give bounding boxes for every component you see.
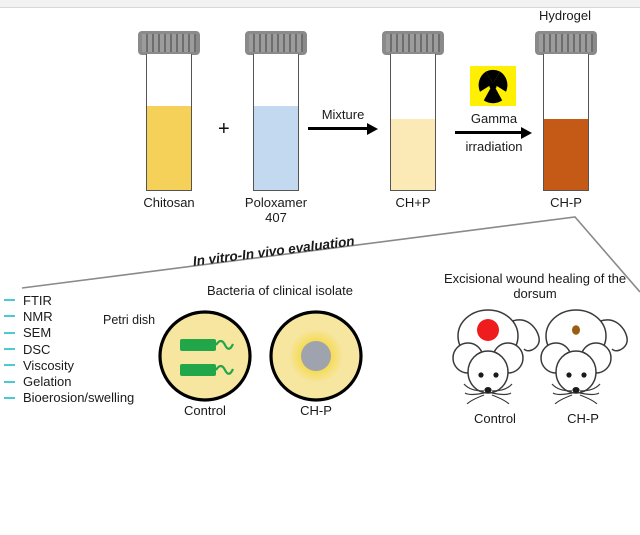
mouse-caption-control: Control bbox=[445, 411, 545, 426]
method-label: FTIR bbox=[23, 293, 52, 308]
method-label: Bioerosion/swelling bbox=[23, 390, 134, 405]
bullet-dash-icon bbox=[4, 364, 15, 366]
bullet-dash-icon bbox=[4, 299, 15, 301]
mouse-chp bbox=[528, 300, 636, 409]
petri-dish-control bbox=[157, 310, 253, 407]
methods-list: FTIR NMR SEM DSC Viscosity Gelation Bioe… bbox=[4, 292, 134, 406]
petri-dish-chp bbox=[268, 310, 364, 407]
list-item: Gelation bbox=[4, 373, 134, 389]
list-item: FTIR bbox=[4, 292, 134, 308]
method-label: SEM bbox=[23, 325, 51, 340]
method-label: Gelation bbox=[23, 374, 71, 389]
bullet-dash-icon bbox=[4, 381, 15, 383]
mouse-caption-chp: CH-P bbox=[533, 411, 633, 426]
figure-canvas: Hydrogel Chitosan + Poloxamer 407 Mixtur… bbox=[0, 0, 640, 535]
bullet-dash-icon bbox=[4, 397, 15, 399]
list-item: Viscosity bbox=[4, 357, 134, 373]
bullet-dash-icon bbox=[4, 332, 15, 334]
petri-caption-control: Control bbox=[155, 403, 255, 418]
petri-caption-chp: CH-P bbox=[266, 403, 366, 418]
list-item: SEM bbox=[4, 325, 134, 341]
method-label: DSC bbox=[23, 342, 50, 357]
petri-dish-label: Petri dish bbox=[103, 313, 155, 327]
method-label: Viscosity bbox=[23, 358, 74, 373]
wound-marker bbox=[477, 319, 499, 341]
bullet-dash-icon bbox=[4, 348, 15, 350]
connector-lines bbox=[0, 0, 640, 535]
method-label: NMR bbox=[23, 309, 53, 324]
list-item: Bioerosion/swelling bbox=[4, 390, 134, 406]
bullet-dash-icon bbox=[4, 315, 15, 317]
list-item: DSC bbox=[4, 341, 134, 357]
invivo-title: Excisional wound healing of the dorsum bbox=[430, 271, 640, 301]
wound-marker bbox=[572, 325, 580, 335]
invitro-title: Bacteria of clinical isolate bbox=[165, 283, 395, 298]
